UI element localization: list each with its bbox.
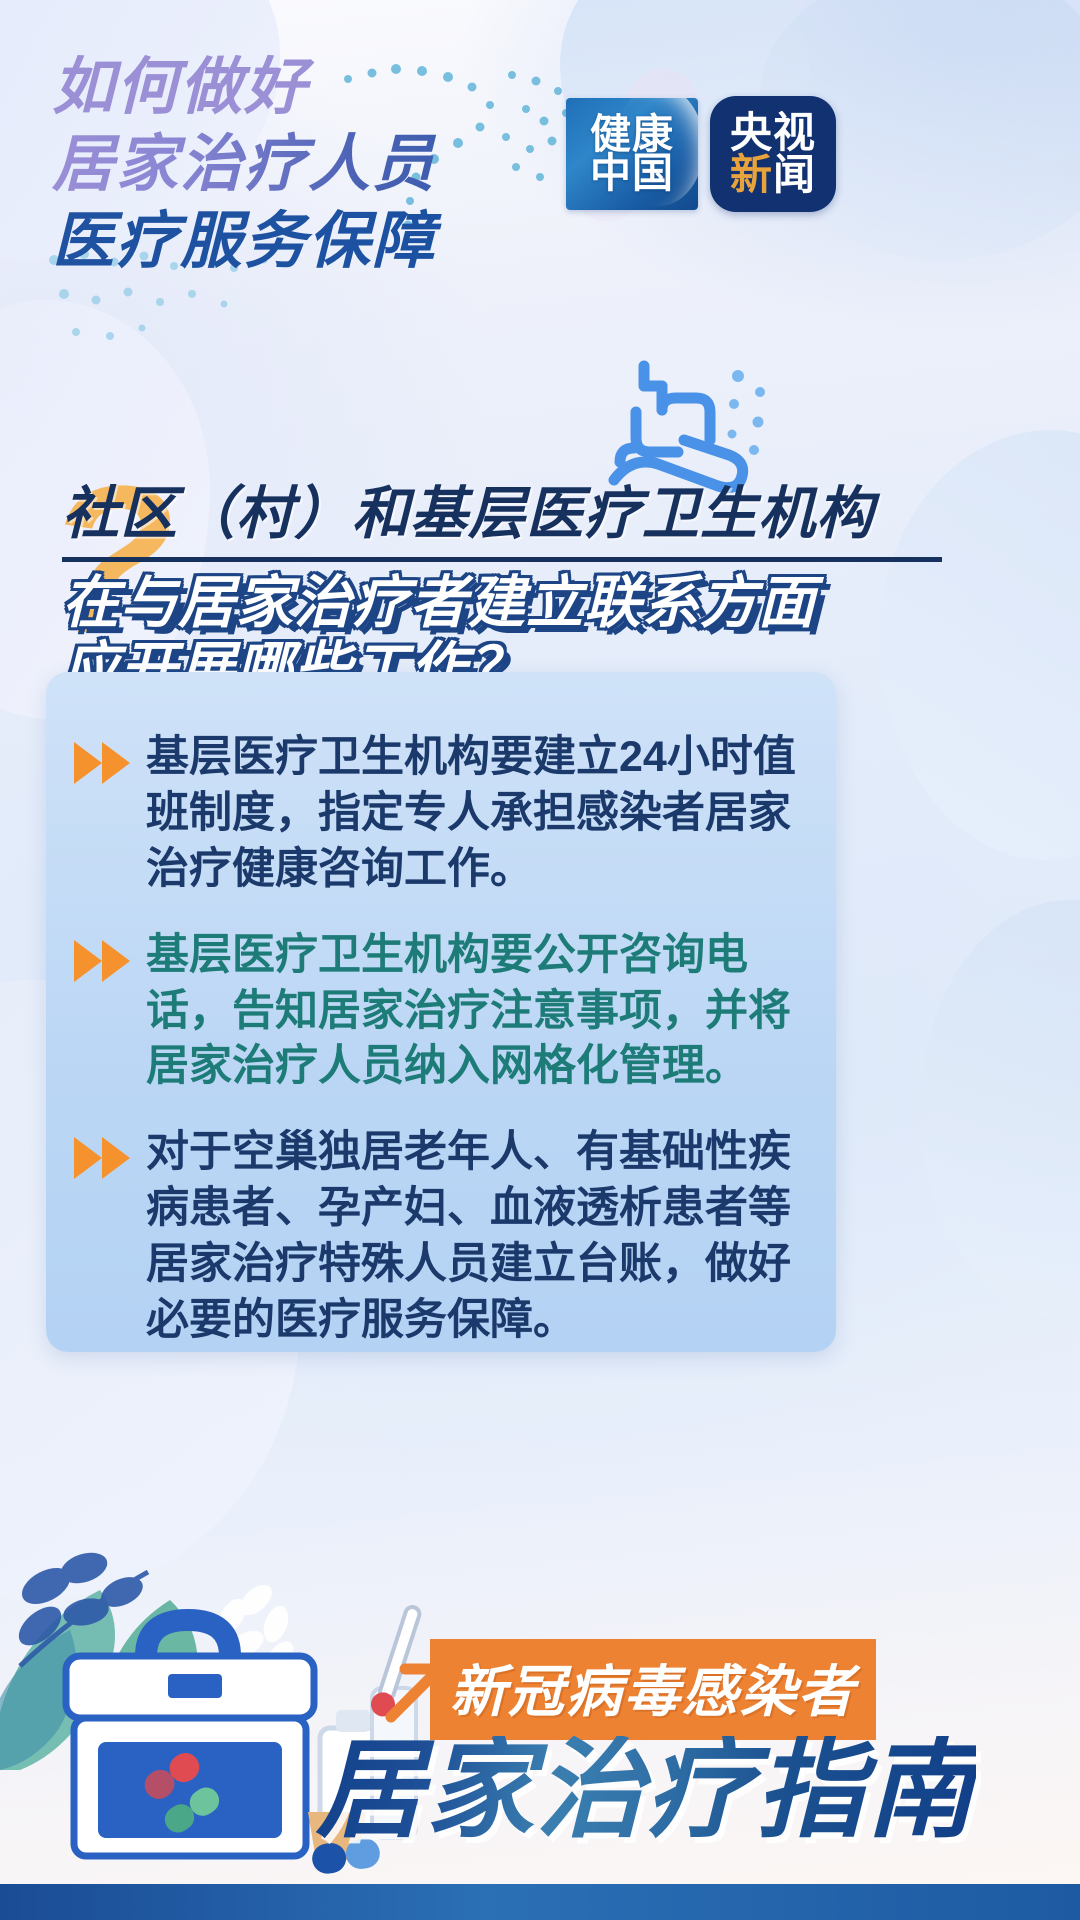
list-item-text: 基层医疗卫生机构要公开咨询电话，告知居家治疗注意事项，并将居家治疗人员纳入网格化… [146,928,810,1096]
poster-canvas: 如何做好 居家治疗人员 医疗服务保障 健康 中国 央视 新闻 ? [0,0,1080,1920]
double-chevron-icon [72,1125,146,1186]
poster-title-block: 如何做好 居家治疗人员 医疗服务保障 [52,50,612,281]
background-blob-lower-right [920,900,1080,1320]
logo-cctv-news[interactable]: 央视 新闻 [710,96,836,212]
list-item-text: 对于空巢独居老年人、有基础性疾病患者、孕产妇、血液透析患者等居家治疗特殊人员建立… [146,1125,810,1349]
list-item: 基层医疗卫生机构要建立24小时值班制度，指定专人承担感染者居家治疗健康咨询工作。 [72,730,810,898]
list-item: 基层医疗卫生机构要公开咨询电话，告知居家治疗注意事项，并将居家治疗人员纳入网格化… [72,928,810,1096]
content-card-body: 基层医疗卫生机构要建立24小时值班制度，指定专人承担感染者居家治疗健康咨询工作。… [46,672,836,1371]
question-heading-line-2: 在与居家治疗者建立联系方面 [62,570,1012,636]
footer-title: 居家治疗指南 [316,1736,976,1844]
question-heading-rule [62,557,942,562]
logo-cctv-news-line2: 新闻 [730,154,816,196]
logo-healthy-china-line1: 健康 [590,115,674,154]
footer-bottom-bar [0,1884,1080,1920]
question-heading: 社区（村）和基层医疗卫生机构 在与居家治疗者建立联系方面 应开展哪些工作？ [62,468,1012,702]
logo-cctv-news-char-wen: 闻 [773,151,816,198]
list-item-text: 基层医疗卫生机构要建立24小时值班制度，指定专人承担感染者居家治疗健康咨询工作。 [146,730,810,898]
question-heading-line-1: 社区（村）和基层医疗卫生机构 [62,468,1012,550]
logo-cctv-news-char-xin: 新 [730,151,773,198]
poster-title-line-1: 如何做好 [52,50,612,127]
logo-cctv-news-line1: 央视 [730,112,816,154]
double-chevron-icon [72,730,146,791]
list-item: 对于空巢独居老年人、有基础性疾病患者、孕产妇、血液透析患者等居家治疗特殊人员建立… [72,1125,810,1349]
double-chevron-icon [72,928,146,989]
footer-tag-badge: 新冠病毒感染者 [430,1639,876,1740]
footer-tag-text: 新冠病毒感染者 [450,1660,856,1723]
content-card: 基层医疗卫生机构要建立24小时值班制度，指定专人承担感染者居家治疗健康咨询工作。… [46,672,836,1352]
logo-healthy-china-line2: 中国 [590,154,674,193]
poster-title-line-3: 医疗服务保障 [52,204,612,281]
logo-healthy-china[interactable]: 健康 中国 [566,98,698,210]
poster-title-line-2: 居家治疗人员 [52,127,612,204]
